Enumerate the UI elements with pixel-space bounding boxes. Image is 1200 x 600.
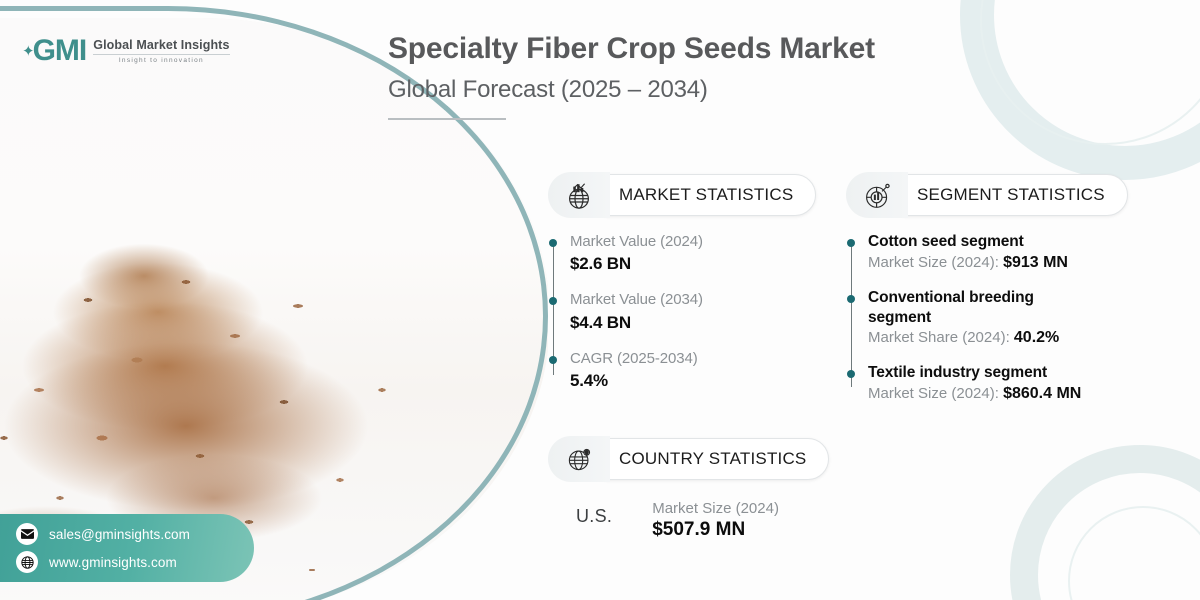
bullet-dot — [847, 239, 855, 247]
globe-chart-icon — [548, 172, 610, 218]
bullet-connector-line — [553, 242, 554, 375]
segment-statistics-pill[interactable]: SEGMENT STATISTICS — [900, 174, 1128, 216]
bullet-dot — [549, 297, 557, 305]
bullet-dot — [549, 239, 557, 247]
list-item: Conventional breeding segment Market Sha… — [868, 288, 1128, 348]
stat-value: 5.4% — [570, 371, 816, 391]
segment-metric-label: Market Size (2024): — [868, 254, 1003, 271]
country-statistics-label: COUNTRY STATISTICS — [619, 449, 806, 469]
segment-statistics-header: SEGMENT STATISTICS — [846, 172, 1128, 218]
segment-metric: Market Share (2024): 40.2% — [868, 329, 1128, 347]
contact-website-row[interactable]: www.gminsights.com — [16, 551, 254, 573]
country-metric: Market Size (2024) $507.9 MN — [652, 500, 779, 541]
list-item: Market Value (2034) $4.4 BN — [570, 290, 816, 332]
contact-website: www.gminsights.com — [49, 555, 177, 570]
logo-wordmark: Global Market Insights Insight to innova… — [93, 38, 229, 64]
segment-metric-label: Market Share (2024): — [868, 329, 1014, 346]
globe-pin-icon — [548, 436, 610, 482]
segment-metric-value: $860.4 MN — [1003, 385, 1081, 402]
bullet-dot — [847, 295, 855, 303]
country-metric-value: $507.9 MN — [652, 519, 779, 541]
list-item: Textile industry segment Market Size (20… — [868, 363, 1128, 403]
globe-icon — [16, 551, 38, 573]
contact-email: sales@gminsights.com — [49, 527, 190, 542]
list-item: Market Value (2024) $2.6 BN — [570, 232, 816, 274]
bullet-dot — [847, 370, 855, 378]
decorative-ring-bottom-right-2 — [1068, 506, 1200, 600]
list-item: Cotton seed segment Market Size (2024): … — [868, 232, 1128, 272]
logo-divider — [93, 54, 229, 55]
segment-metric: Market Size (2024): $860.4 MN — [868, 385, 1128, 403]
stat-value: $4.4 BN — [570, 313, 816, 333]
segment-statistics-label: SEGMENT STATISTICS — [917, 185, 1105, 205]
page-title: Specialty Fiber Crop Seeds Market — [388, 32, 875, 66]
page-subtitle: Global Forecast (2025 – 2034) — [388, 76, 875, 104]
decorative-ring-top-right — [960, 0, 1200, 180]
gmi-logo[interactable]: ✦ GMI Global Market Insights Insight to … — [22, 36, 230, 66]
country-name: U.S. — [576, 500, 612, 527]
title-underline — [388, 118, 506, 120]
segment-title: Conventional breeding segment — [868, 288, 1083, 328]
market-statistics-label: MARKET STATISTICS — [619, 185, 793, 205]
logo-tagline: Insight to innovation — [93, 57, 229, 64]
decorative-ring-top-right-2 — [980, 0, 1200, 145]
country-statistics-pill[interactable]: COUNTRY STATISTICS — [602, 438, 829, 480]
bullet-connector-line — [851, 242, 852, 387]
segment-statistics-section: SEGMENT STATISTICS Cotton seed segment M… — [846, 172, 1128, 403]
country-statistics-section: COUNTRY STATISTICS U.S. Market Size (202… — [548, 436, 829, 541]
envelope-icon — [16, 523, 38, 545]
market-statistics-pill[interactable]: MARKET STATISTICS — [602, 174, 816, 216]
report-header: Specialty Fiber Crop Seeds Market Global… — [388, 32, 875, 120]
market-statistics-header: MARKET STATISTICS — [548, 172, 816, 218]
stat-value: $2.6 BN — [570, 254, 816, 274]
logo-initials: GMI — [33, 36, 87, 66]
segment-metric-value: $913 MN — [1003, 254, 1068, 271]
pie-chart-icon — [846, 172, 908, 218]
country-statistics-row: U.S. Market Size (2024) $507.9 MN — [576, 500, 829, 541]
country-statistics-header: COUNTRY STATISTICS — [548, 436, 829, 482]
contact-email-row[interactable]: sales@gminsights.com — [16, 523, 254, 545]
decorative-ring-bottom-right — [1010, 445, 1200, 600]
contact-pill: sales@gminsights.com www.gminsights.com — [0, 514, 254, 582]
logo-mark: ✦ GMI — [22, 36, 86, 66]
stat-label: Market Value (2024) — [570, 232, 816, 252]
stat-label: Market Value (2034) — [570, 290, 816, 310]
stat-label: CAGR (2025-2034) — [570, 349, 816, 369]
segment-title: Textile industry segment — [868, 363, 1083, 383]
segment-metric-label: Market Size (2024): — [868, 385, 1003, 402]
infographic-canvas: ✦ GMI Global Market Insights Insight to … — [0, 0, 1200, 600]
segment-metric: Market Size (2024): $913 MN — [868, 254, 1128, 272]
segment-metric-value: 40.2% — [1014, 329, 1059, 346]
logo-company-name: Global Market Insights — [93, 38, 229, 52]
market-statistics-section: MARKET STATISTICS Market Value (2024) $2… — [548, 172, 816, 391]
country-metric-label: Market Size (2024) — [652, 500, 779, 517]
bullet-dot — [549, 356, 557, 364]
segment-title: Cotton seed segment — [868, 232, 1083, 252]
market-statistics-list: Market Value (2024) $2.6 BN Market Value… — [548, 232, 816, 391]
list-item: CAGR (2025-2034) 5.4% — [570, 349, 816, 391]
segment-statistics-list: Cotton seed segment Market Size (2024): … — [846, 232, 1128, 403]
